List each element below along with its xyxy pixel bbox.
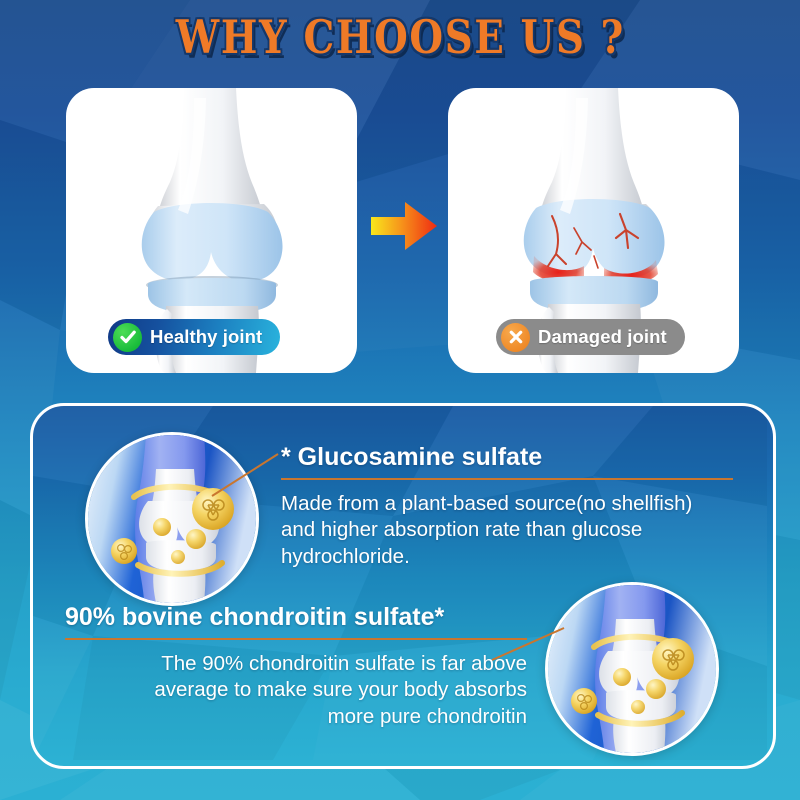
x-circle-icon — [501, 323, 530, 352]
healthy-joint-badge-label: Healthy joint — [150, 326, 262, 348]
page-title: WHY CHOOSE US ? — [175, 10, 624, 64]
glucosamine-body: Made from a plant-based source(no shellf… — [281, 491, 733, 572]
chondroitin-text-block: 90% bovine chondroitin sulfate* The 90% … — [65, 604, 527, 731]
healthy-joint-panel: Healthy joint — [66, 88, 357, 373]
glucosamine-body-line-2: and higher absorption rate than glucose — [281, 517, 733, 544]
damaged-joint-badge-label: Damaged joint — [538, 326, 667, 348]
right-arrow-icon — [371, 200, 437, 252]
chondroitin-heading: 90% bovine chondroitin sulfate* — [65, 604, 527, 632]
damaged-joint-badge: Damaged joint — [496, 319, 685, 355]
page-title-wrap: WHY CHOOSE US ? — [0, 10, 800, 64]
chondroitin-body-line-3: more pure chondroitin — [65, 704, 527, 731]
chondroitin-knee-closeup-image — [545, 582, 719, 756]
glucosamine-body-line-1: Made from a plant-based source(no shellf… — [281, 491, 733, 518]
glucosamine-underline — [281, 478, 733, 480]
chondroitin-underline — [65, 638, 527, 640]
chondroitin-body: The 90% chondroitin sulfate is far above… — [65, 651, 527, 732]
chondroitin-body-line-2: average to make sure your body absorbs — [65, 677, 527, 704]
glucosamine-body-line-3: hydrochloride. — [281, 544, 733, 571]
glucosamine-knee-closeup-image — [85, 432, 259, 606]
ingredients-card: * Glucosamine sulfate Made from a plant-… — [30, 403, 776, 769]
glucosamine-heading: * Glucosamine sulfate — [281, 444, 733, 472]
promo-infographic: WHY CHOOSE US ? — [0, 0, 800, 800]
damaged-joint-panel: Damaged joint — [448, 88, 739, 373]
glucosamine-text-block: * Glucosamine sulfate Made from a plant-… — [281, 444, 733, 571]
check-circle-icon — [113, 323, 142, 352]
chondroitin-body-line-1: The 90% chondroitin sulfate is far above — [65, 651, 527, 678]
healthy-joint-badge: Healthy joint — [108, 319, 280, 355]
